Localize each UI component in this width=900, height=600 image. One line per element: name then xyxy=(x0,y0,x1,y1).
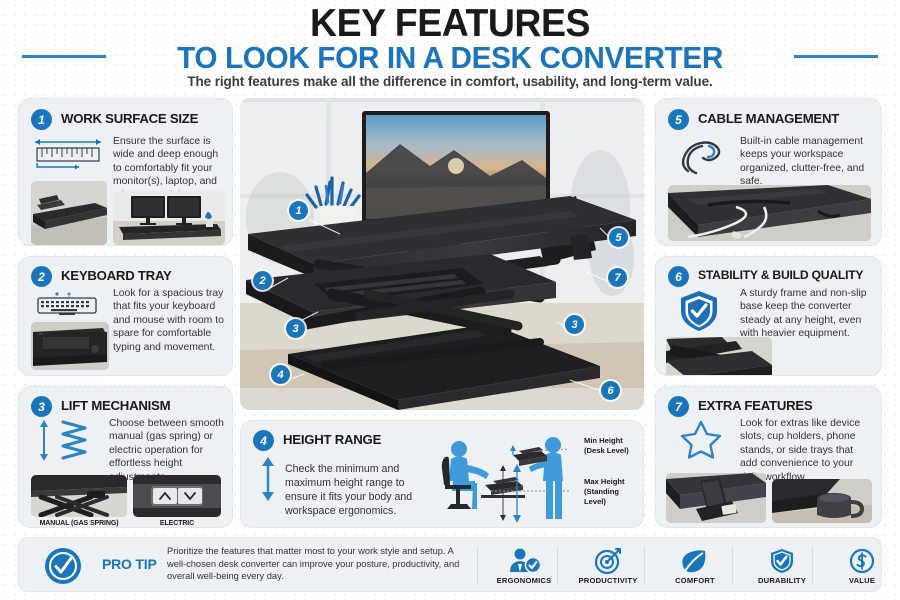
card-title: LIFT MECHANISM xyxy=(61,398,170,413)
card-photo-electric xyxy=(133,475,221,517)
target-icon xyxy=(565,548,651,574)
ruler-icon xyxy=(31,136,105,170)
max-height-label-line2: (Standing Level) xyxy=(584,487,643,507)
protip-text: Prioritize the features that matter most… xyxy=(167,545,462,583)
feature-label: COMFORT xyxy=(652,576,738,585)
check-circle-icon xyxy=(43,546,83,586)
protip-bar: PRO TIP Prioritize the features that mat… xyxy=(18,537,882,592)
max-height-label-line1: Max Height xyxy=(584,477,643,487)
callout-badge-1[interactable]: 1 xyxy=(289,201,308,220)
card-lift-mechanism: 3 LIFT MECHANISM Choose between smooth m… xyxy=(18,386,233,528)
card-title: EXTRA FEATURES xyxy=(698,398,812,413)
card-body: Built-in cable management keeps your wor… xyxy=(740,135,872,189)
shield-check-icon xyxy=(739,548,825,574)
leaf-icon xyxy=(652,548,738,574)
card-body: Choose between smooth manual (gas spring… xyxy=(109,417,227,484)
feature-value: VALUE xyxy=(819,548,900,585)
height-range-diagram xyxy=(441,433,569,525)
card-photo-dual-monitors xyxy=(113,191,225,245)
up-down-arrow-icon xyxy=(259,456,277,502)
infographic-page: KEY FEATURES TO LOOK FOR IN A DESK CONVE… xyxy=(0,0,900,600)
callout-badge-2[interactable]: 2 xyxy=(253,271,272,290)
min-height-label-line2: (Desk Level) xyxy=(584,446,629,456)
card-body: A sturdy frame and non-slip base keep th… xyxy=(740,287,870,341)
desk-converter-product-photo xyxy=(240,98,644,410)
card-photo-manual-gas-spring xyxy=(31,475,127,517)
card-photo-caption: ELECTRIC xyxy=(133,520,221,527)
card-number-badge: 3 xyxy=(31,396,52,417)
callout-badge-6[interactable]: 6 xyxy=(601,381,620,400)
card-photo-frame-base xyxy=(666,337,772,376)
card-number-badge: 2 xyxy=(31,266,52,287)
feature-ergonomics: ERGONOMICS xyxy=(481,548,567,585)
feature-durability: DURABILITY xyxy=(739,548,825,585)
page-subtitle: The right features make all the differen… xyxy=(0,74,900,89)
min-height-label-line1: Min Height xyxy=(584,436,629,446)
card-number-badge: 6 xyxy=(668,266,689,287)
card-number-badge: 4 xyxy=(253,430,274,451)
callout-badge-3b[interactable]: 3 xyxy=(565,315,584,334)
card-cable-management: 5 CABLE MANAGEMENT Built-in cable manage… xyxy=(655,98,882,246)
feature-comfort: COMFORT xyxy=(652,548,738,585)
callout-badge-4[interactable]: 4 xyxy=(271,365,290,384)
card-keyboard-tray: 2 KEYBOARD TRAY xyxy=(18,256,233,376)
divider xyxy=(477,546,478,585)
card-title: KEYBOARD TRAY xyxy=(61,268,172,283)
card-work-surface-size: 1 WORK SURFACE SIZE Ens xyxy=(18,98,233,246)
card-extra-features: 7 EXTRA FEATURES Look for extras like de… xyxy=(655,386,882,528)
card-photo-riser-side xyxy=(31,181,107,245)
card-body: Check the minimum and maximum height ran… xyxy=(285,462,433,518)
card-title: STABILITY & BUILD QUALITY xyxy=(698,268,863,282)
card-photo-cup-holder xyxy=(772,479,872,523)
card-photo-cable-tray xyxy=(668,185,871,241)
feature-label: ERGONOMICS xyxy=(481,576,567,585)
header: KEY FEATURES TO LOOK FOR IN A DESK CONVE… xyxy=(0,0,900,92)
callout-badge-3a[interactable]: 3 xyxy=(286,319,305,338)
card-title: WORK SURFACE SIZE xyxy=(61,111,198,126)
card-number-badge: 7 xyxy=(668,396,689,417)
feature-label: DURABILITY xyxy=(739,576,825,585)
card-title: HEIGHT RANGE xyxy=(283,432,381,447)
card-body: Look for a spacious tray that fits your … xyxy=(113,287,225,354)
protip-label: PRO TIP xyxy=(102,556,157,572)
star-icon xyxy=(680,419,722,459)
feature-productivity: PRODUCTIVITY xyxy=(565,548,651,585)
shield-check-icon xyxy=(678,289,720,333)
keyboard-icon xyxy=(37,291,99,317)
min-height-label: Min Height (Desk Level) xyxy=(584,436,629,456)
callout-badge-5[interactable]: 5 xyxy=(609,228,628,247)
card-number-badge: 1 xyxy=(31,109,52,130)
card-photo-phone-stand xyxy=(666,473,766,523)
person-check-icon xyxy=(481,548,567,574)
cable-icon xyxy=(676,135,724,175)
card-number-badge: 5 xyxy=(668,109,689,130)
feature-label: VALUE xyxy=(819,576,900,585)
card-photo-caption: MANUAL (GAS SPRING) xyxy=(31,520,127,527)
spring-arrow-icon xyxy=(37,419,103,463)
callout-badge-7[interactable]: 7 xyxy=(608,268,627,287)
dollar-circle-icon xyxy=(819,548,900,574)
card-height-range: 4 HEIGHT RANGE Check the minimum and max… xyxy=(240,420,644,528)
card-photo-keyboard-tray xyxy=(31,322,109,370)
feature-label: PRODUCTIVITY xyxy=(565,576,651,585)
page-title-line2: TO LOOK FOR IN A DESK CONVERTER xyxy=(18,40,882,76)
max-height-label: Max Height (Standing Level) xyxy=(584,477,643,507)
card-stability-build-quality: 6 STABILITY & BUILD QUALITY A sturdy fra… xyxy=(655,256,882,376)
card-title: CABLE MANAGEMENT xyxy=(698,111,839,126)
